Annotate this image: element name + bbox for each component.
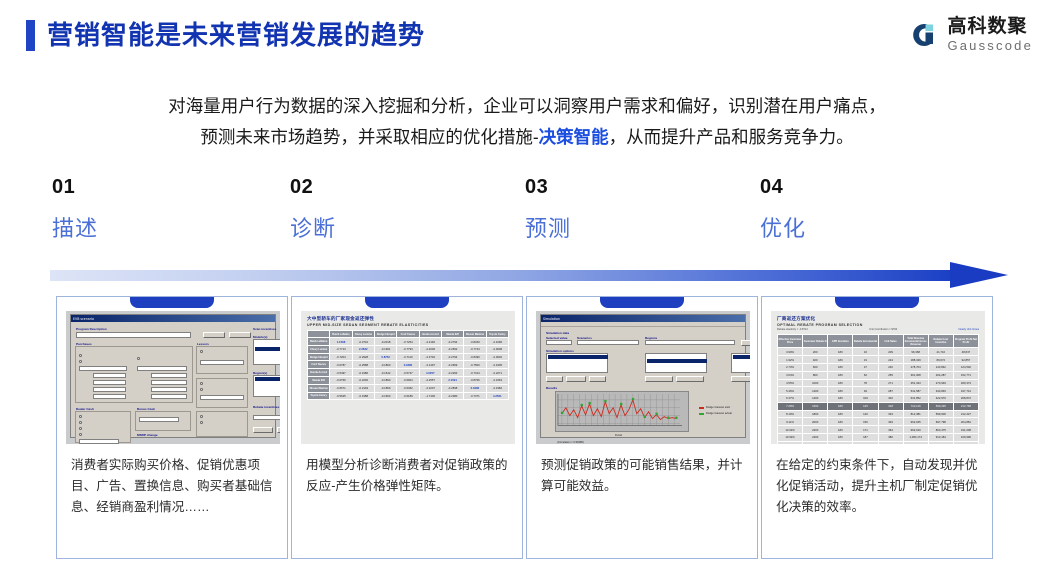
dialog-title-text: Simulation (543, 317, 560, 321)
table-row: Mazda 626-0.6766-0.2230-0.1890-0.6904-2.… (308, 377, 509, 385)
card-row: EVB scenario Program Description Purchas… (0, 296, 1051, 560)
scenarios-select[interactable] (577, 340, 639, 345)
table-cell: -2.1905 (486, 361, 508, 369)
table-cell: -0.6671 (330, 384, 352, 392)
table-cell: -0.2928 (352, 353, 374, 361)
regions-list-selected-item (255, 377, 280, 381)
table-cell: 812,381 (903, 410, 928, 418)
table-cell: -0.2794 (441, 338, 463, 346)
output-list-selected-item (733, 355, 750, 359)
progress-arrow-head (950, 262, 1008, 288)
table-cell: 10.93% (778, 433, 803, 441)
table-cell: -0.1991 (374, 345, 396, 353)
table-cell: 180 (828, 379, 853, 387)
table-cell: 140 (853, 410, 878, 418)
card-optimize-caption: 在给定的约束条件下，自动发现并优化促销活动，提升主机厂制定促销优化决策的效率。 (776, 455, 980, 518)
rate-subvently-group (196, 378, 248, 408)
table-cell: -0.7500 (464, 361, 486, 369)
table-row: 3.64%80018062255361,008204,287152,771 (778, 371, 979, 379)
table-row: Dodge Intrepid-0.7204-0.29280.8752-0.711… (308, 353, 509, 361)
rebate-model-select[interactable] (253, 415, 280, 420)
table-cell: -0.3742 (352, 338, 374, 346)
table-cell: 913,184 (928, 433, 953, 441)
card-predict-screenshot: Simulation Simulation data Selected valu… (536, 311, 750, 444)
optimal-notes: Rebate elasticity = -0.8712 Unit Contrib… (777, 327, 979, 331)
table-cell: 62 (853, 371, 878, 379)
table-cell: 180,374 (953, 379, 978, 387)
table-cell: -2.2006 (419, 345, 441, 353)
table-cell: -0.1869 (374, 384, 396, 392)
table-cell: -0.2380 (441, 392, 463, 400)
scenario-list-selected-item (548, 355, 608, 359)
table-cell: -1.7436 (419, 392, 441, 400)
table-cell: -2.1663 (486, 377, 508, 385)
radio-cash-only[interactable] (79, 415, 82, 418)
table-cell: 125 (853, 402, 878, 410)
table-cell: -0.6787 (330, 361, 352, 369)
table-cell: -2.2192 (419, 338, 441, 346)
table-cell: 212,768 (953, 402, 978, 410)
table-cell: 599,906 (928, 410, 953, 418)
close-button[interactable] (229, 332, 251, 338)
progress-arrow (50, 262, 1010, 288)
step-01-number: 01 (52, 176, 252, 199)
table-cell: -2.0602 (486, 353, 508, 361)
table-cell: 5.46% (778, 387, 803, 395)
simulation-window: Simulation Simulation data Selected valu… (540, 314, 746, 438)
save-button[interactable] (203, 332, 225, 338)
legacy-dialog-window: EVB scenario Program Description Purchas… (70, 314, 276, 438)
table-cell: 180 (828, 371, 853, 379)
table-cell: -0.1890 (374, 377, 396, 385)
table-col-header: Rebate Cost Incentive (928, 335, 953, 348)
table-col-header: Buick LaSabre (330, 331, 352, 338)
step-03-label: 预测 (525, 211, 725, 243)
table-cell: -2.3702 (419, 353, 441, 361)
table-cell: -0.6766 (330, 377, 352, 385)
radio-amount[interactable] (200, 415, 203, 418)
elasticity-title-en: UPPER MID-SIZE SEDAN SEGMENT REBATE ELAS… (307, 323, 509, 327)
slide-root: 营销智能是未来营销发展的趋势 高科数聚 Gausscode 对海量用户行为数据的… (0, 0, 1051, 586)
table-cell: -2.1096 (486, 338, 508, 346)
table-cell: -0.2794 (441, 353, 463, 361)
table-col-header: Nissan Maxima (464, 331, 486, 338)
table-row-header: Ford Taurus (308, 361, 330, 369)
table-cell: -0.2838 (441, 384, 463, 392)
elasticity-matrix-table: Buick LaSabreChevy LuminaDodge IntrepidF… (307, 330, 509, 400)
table-cell: 180 (828, 402, 853, 410)
table-row: 11.84%26001802033951,173,4391,028,753142… (778, 441, 979, 444)
step-01: 01 描述 (52, 176, 252, 243)
table-row: Ford Taurus-0.6787-0.2588-0.18600.9480-2… (308, 361, 509, 369)
chart-xlabel: Period (615, 434, 622, 437)
page-title: 营销智能是未来营销发展的趋势 (26, 20, 425, 51)
lead-emphasis: 决策智能 (539, 127, 609, 147)
table-cell: -0.2692 (441, 345, 463, 353)
table-col-header: Total Revenue Incremental Gross Revenue (903, 335, 928, 348)
table-cell: 541,587 (903, 387, 928, 395)
table-cell: -0.7204 (330, 353, 352, 361)
card-tab-icon (130, 297, 214, 308)
correlation-footer: (Correlation = 0.96386) (557, 441, 584, 444)
table-row: Buick LaSabre1.1568-0.3742-0.2018-0.7254… (308, 338, 509, 346)
dialog-title-bar: Simulation (541, 315, 745, 322)
table-row-header: Buick LaSabre (308, 338, 330, 346)
table-cell: 255 (878, 371, 903, 379)
table-cell: -0.7371 (464, 392, 486, 400)
table-cell: 212,427 (953, 410, 978, 418)
radio-incomp-factor[interactable] (200, 382, 203, 385)
table-col-header: Mazda 626 (441, 331, 463, 338)
step-labels: 01 描述 02 诊断 03 预测 04 优化 (0, 176, 1051, 246)
table-row: 7.28%1600180125318722,116509,335212,768 (778, 402, 979, 410)
card-tab-icon (835, 297, 919, 308)
legend-label-actual: Dodge Caravan actual (706, 412, 732, 415)
lead-paragraph: 对海量用户行为数据的深入挖掘和分析，企业可以洞察用户需求和偏好，识别潜在用户痛点… (52, 91, 1002, 153)
title-accent-bar (26, 20, 35, 51)
table-cell: -0.7744 (464, 345, 486, 353)
table-cell: 422,970 (928, 395, 953, 403)
table-cell: 302 (878, 395, 903, 403)
label-results: Results (546, 386, 557, 390)
table-cell: 902,645 (903, 418, 928, 426)
optimal-table-shot: 厂商返还方案优化 OPTIMAL REBATE PROGRAM SELECTIO… (771, 311, 985, 444)
legend-swatch-estimated (699, 407, 704, 409)
radio-no-rebate[interactable] (79, 354, 82, 357)
table-cell: 2000 (803, 418, 828, 426)
table-corner-cell (308, 331, 330, 338)
models-list-selected-item (255, 347, 280, 351)
output-list[interactable] (731, 353, 750, 373)
table-row: 10.93%24001801873801,083,174913,184169,9… (778, 433, 979, 441)
table-row-header: Mazda 626 (308, 377, 330, 385)
table-cell: 2400 (803, 433, 828, 441)
table-cell: 41,710 (928, 348, 953, 356)
table-cell: -0.2293 (441, 369, 463, 377)
table-cell: -0.6904 (397, 377, 419, 385)
table-cell: 1.92% (778, 356, 803, 364)
step-03-number: 03 (525, 176, 725, 199)
models-list[interactable] (253, 339, 280, 365)
table-cell: 349 (878, 418, 903, 426)
table-cell: -2.0038 (486, 345, 508, 353)
table-header-row: Effective Customer PriceCustomer Rebate … (778, 335, 979, 348)
term-24-input[interactable] (93, 373, 126, 378)
table-cell: -0.2018 (374, 338, 396, 346)
table-cell: 1800 (803, 410, 828, 418)
table-cell: -0.1986 (352, 369, 374, 377)
table-cell: 10.02% (778, 426, 803, 434)
table-cell: 209 (878, 348, 903, 356)
select-all-button[interactable] (645, 376, 673, 382)
table-cell: 3.99% (778, 348, 803, 356)
dialog-title-bar: EVB scenario (71, 315, 275, 322)
legend-label-estimated: Dodge Caravan estd (706, 406, 730, 409)
bonus-cash-input[interactable] (139, 417, 179, 422)
table-col-header: Rebate Incremental (853, 335, 878, 348)
card-predict-caption: 预测促销政策的可能销售结果，并计算可能效益。 (541, 455, 745, 497)
forecast-chart-svg (556, 392, 688, 432)
table-col-header: Ford Taurus (397, 331, 419, 338)
card-describe-screenshot: EVB scenario Program Description Purchas… (66, 311, 280, 444)
table-cell: 722,116 (903, 402, 928, 410)
table-cell: 94 (853, 387, 878, 395)
table-cell: 191,038 (953, 426, 978, 434)
purchase-select-1[interactable] (79, 366, 127, 371)
note-elasticity: Rebate elasticity = -0.8712 (777, 328, 808, 331)
group-label-program-description: Program Description (76, 327, 107, 331)
table-cell: 180 (828, 363, 853, 371)
table-body: Buick LaSabre1.1568-0.3742-0.2018-0.7254… (308, 338, 509, 400)
table-cell: 2200 (803, 426, 828, 434)
table-cell: -0.2669 (441, 361, 463, 369)
get-data-button[interactable] (741, 340, 750, 346)
table-cell: -2.2271 (486, 369, 508, 377)
table-cell: 180 (828, 387, 853, 395)
table-cell: 156 (853, 418, 878, 426)
table-row: 10.02%2200180171364992,910803,475191,038 (778, 426, 979, 434)
table-row: 4.55%100018078271451,323270,949180,374 (778, 379, 979, 387)
term-48-rate[interactable] (151, 387, 187, 392)
table-cell: 200 (803, 348, 828, 356)
radio-percent-msrp[interactable] (200, 421, 203, 424)
table-row: Nissan Maxima-0.6671-0.2149-0.1869-0.636… (308, 384, 509, 392)
brand-name-en: Gausscode (947, 39, 1033, 52)
table-col-header: Dodge Intrepid (374, 331, 396, 338)
table-row: 5.46%120018094287541,587343,846197,741 (778, 387, 979, 395)
menu-bar[interactable] (541, 322, 745, 327)
card-diagnose[interactable]: 大中型轿车的厂家现金返还弹性 UPPER MID-SIZE SEDAN SEGM… (291, 296, 523, 559)
table-cell: -0.2230 (352, 377, 374, 385)
radio-no-apr[interactable] (79, 360, 82, 363)
card-describe[interactable]: EVB scenario Program Description Purchas… (56, 296, 288, 559)
note-contribution: Unit Contribution = $790 (869, 328, 897, 331)
table-cell: 2.73% (778, 363, 803, 371)
table-cell: 169,990 (953, 433, 978, 441)
table-cell: 1400 (803, 395, 828, 403)
forecast-chart (555, 391, 689, 432)
group-label-msrp-change: MSRP change (137, 433, 158, 437)
radio-no-subvently[interactable] (200, 350, 203, 353)
term-24-rate[interactable] (151, 373, 187, 378)
term-60-rate[interactable] (151, 394, 187, 399)
table-cell: 204,881 (953, 418, 978, 426)
table-cell: 240 (878, 363, 903, 371)
table-cell: 1,028,753 (928, 441, 953, 444)
table-cell: 600 (803, 363, 828, 371)
table-cell: 270,949 (928, 379, 953, 387)
step-02-number: 02 (290, 176, 490, 199)
table-cell: 364 (878, 426, 903, 434)
table-row: Chevy Lumina-0.77132.2622-0.1991-0.7793-… (308, 345, 509, 353)
dealer-cash-select[interactable] (79, 439, 119, 444)
table-cell: 287 (878, 387, 903, 395)
scenario-list[interactable] (546, 353, 608, 373)
table-cell: 803,475 (928, 426, 953, 434)
program-description-input[interactable] (76, 332, 191, 338)
table-cell: 0.8752 (374, 353, 396, 361)
table-col-header: Honda Accord (419, 331, 441, 338)
graph-button[interactable] (731, 376, 750, 382)
term-36-rate[interactable] (151, 380, 187, 385)
slide-header: 营销智能是未来营销发展的趋势 高科数聚 Gausscode (0, 0, 1051, 72)
remove-button[interactable] (566, 376, 586, 382)
table-col-header: Customer Rebate $ (803, 335, 828, 348)
table-cell: 0.9480 (397, 361, 419, 369)
table-cell: 180 (828, 395, 853, 403)
table-cell: 89,672 (928, 356, 953, 364)
table-cell: 1200 (803, 387, 828, 395)
regions-list[interactable] (253, 375, 280, 397)
table-cell: 180 (828, 418, 853, 426)
table-cell: -0.7314 (464, 369, 486, 377)
rate-value-input[interactable] (200, 395, 244, 400)
card-diagnose-screenshot: 大中型轿车的厂家现金返还弹性 UPPER MID-SIZE SEDAN SEGM… (301, 311, 515, 444)
table-cell: -0.5645 (330, 392, 352, 400)
table-cell: -2.1982 (486, 384, 508, 392)
table-cell: 180 (828, 356, 853, 364)
table-cell: -2.3207 (419, 384, 441, 392)
table-cell: 124,502 (953, 363, 978, 371)
term-48-input[interactable] (93, 387, 126, 392)
table-cell: 278,704 (903, 363, 928, 371)
restore-environment-button[interactable] (277, 427, 280, 433)
table-cell: 171 (853, 426, 878, 434)
dialog-title-text: EVB scenario (73, 317, 94, 321)
add-button[interactable] (546, 376, 563, 382)
selected-value-select[interactable] (546, 340, 572, 345)
card-describe-caption: 消费者实际购买价格、促销优惠项目、广告、置换信息、购买者基础信息、经销商盈利情况… (71, 455, 275, 518)
table-cell: 4.2561 (486, 392, 508, 400)
table-cell: -0.5747 (397, 369, 419, 377)
table-cell: 8.19% (778, 410, 803, 418)
table-cell: 1600 (803, 402, 828, 410)
table-cell: 992,910 (903, 426, 928, 434)
table-cell: -0.8766 (464, 377, 486, 385)
table-cell: 6.37% (778, 395, 803, 403)
term-60-input[interactable] (93, 394, 126, 399)
table-row: 3.99%2001801620996,36841,71048,847 (778, 348, 979, 356)
step-04: 04 优化 (760, 176, 960, 243)
table-cell: 180 (828, 410, 853, 418)
radio-rebate-cash-fin[interactable] (79, 421, 82, 424)
table-cell: 204,287 (928, 371, 953, 379)
card-optimize[interactable]: 厂商返还方案优化 OPTIMAL REBATE PROGRAM SELECTIO… (761, 296, 993, 559)
step-01-label: 描述 (52, 211, 252, 243)
table-cell: 800 (803, 371, 828, 379)
progress-arrow-shaft (50, 270, 956, 281)
table-cell: 197,741 (953, 387, 978, 395)
table-cell: 1.1568 (330, 338, 352, 346)
table-cell: 208,872 (953, 395, 978, 403)
table-cell: -0.6362 (397, 384, 419, 392)
legend-swatch-actual (699, 413, 704, 415)
model-list[interactable] (645, 353, 707, 373)
table-cell: -0.7793 (397, 345, 419, 353)
table-col-header: Program Profit Net Profit (953, 335, 978, 348)
group-label-scan-incentives: Scan incentives (253, 327, 276, 331)
table-cell: 142,686 (953, 441, 978, 444)
table-cell: 11.84% (778, 441, 803, 444)
table-cell: -0.8340 (464, 338, 486, 346)
table-cell: 271 (878, 379, 903, 387)
table-cell: 361,008 (903, 371, 928, 379)
lead-line-2-pre: 预测未来市场趋势，并采取相应的优化措施- (200, 127, 538, 147)
clear-all-button[interactable] (676, 376, 704, 382)
step-03: 03 预测 (525, 176, 725, 243)
table-row: Honda Accord-0.5497-0.1986-0.1642-0.5747… (308, 369, 509, 377)
table-row: 9.11%2000180156349902,645697,798204,881 (778, 418, 979, 426)
table-col-header: Toyota Camry (486, 331, 508, 338)
optimal-rebate-table: Effective Customer PriceCustomer Rebate … (777, 334, 979, 444)
table-col-header: Unit Sales (878, 335, 903, 348)
table-cell: -0.7110 (397, 353, 419, 361)
table-cell: 0.6480 (464, 384, 486, 392)
table-row: 6.37%1400180109302631,852422,970208,872 (778, 395, 979, 403)
table-cell: 224 (878, 356, 903, 364)
table-cell: -0.7713 (330, 345, 352, 353)
table-header-row: Buick LaSabreChevy LuminaDodge IntrepidF… (308, 331, 509, 338)
purchase-select-2[interactable] (137, 366, 187, 371)
table-cell: -0.8490 (464, 353, 486, 361)
regions-select[interactable] (645, 340, 735, 345)
table-cell: 7.28% (778, 402, 803, 410)
radio-apr[interactable] (200, 388, 203, 391)
table-cell: 343,846 (928, 387, 953, 395)
lessor-cash-input[interactable] (200, 360, 244, 365)
table-row: Toyota Camry-0.5645-0.1988-0.1660-0.6189… (308, 392, 509, 400)
radio-lease-only[interactable] (79, 433, 82, 436)
table-cell: 180 (828, 426, 853, 434)
note-unit-gross: Nearly Unit Gross (959, 328, 979, 331)
table-cell: -0.2588 (352, 361, 374, 369)
step-04-label: 优化 (760, 211, 960, 243)
table-col-header: APR Incentive (828, 335, 853, 348)
card-tab-icon (600, 297, 684, 308)
step-02-label: 诊断 (290, 211, 490, 243)
table-cell: 152,771 (953, 371, 978, 379)
table-cell: -0.5497 (330, 369, 352, 377)
card-predict[interactable]: Simulation Simulation data Selected valu… (526, 296, 758, 559)
radio-not-offered[interactable] (137, 357, 140, 360)
table-cell: -0.1860 (374, 361, 396, 369)
residual-subvently-group (196, 411, 248, 437)
lead-line-2-post: ，从而提升产品和服务竞争力。 (609, 127, 854, 147)
table-cell: 203 (853, 441, 878, 444)
step-04-number: 04 (760, 176, 960, 199)
table-cell: 109 (853, 395, 878, 403)
edit-button[interactable] (589, 376, 606, 382)
table-row-header: Toyota Camry (308, 392, 330, 400)
radio-all-cash-fin-lease[interactable] (79, 427, 82, 430)
table-row-header: Chevy Lumina (308, 345, 330, 353)
table-cell: -2.1497 (419, 361, 441, 369)
table-cell: 2600 (803, 441, 828, 444)
elasticity-table-shot: 大中型轿车的厂家现金返还弹性 UPPER MID-SIZE SEDAN SEGM… (301, 311, 515, 444)
table-cell: 92,857 (953, 356, 978, 364)
table-row-header: Dodge Intrepid (308, 353, 330, 361)
table-cell: 395 (878, 441, 903, 444)
clear-button[interactable] (253, 427, 273, 433)
table-cell: 631,852 (903, 395, 928, 403)
table-cell: 180 (828, 433, 853, 441)
optimal-title-cn: 厂商返还方案优化 (777, 316, 979, 322)
table-cell: 47 (853, 363, 878, 371)
table-cell: 143,842 (928, 363, 953, 371)
table-cell: 1,083,174 (903, 433, 928, 441)
term-36-input[interactable] (93, 380, 126, 385)
table-row-header: Honda Accord (308, 369, 330, 377)
